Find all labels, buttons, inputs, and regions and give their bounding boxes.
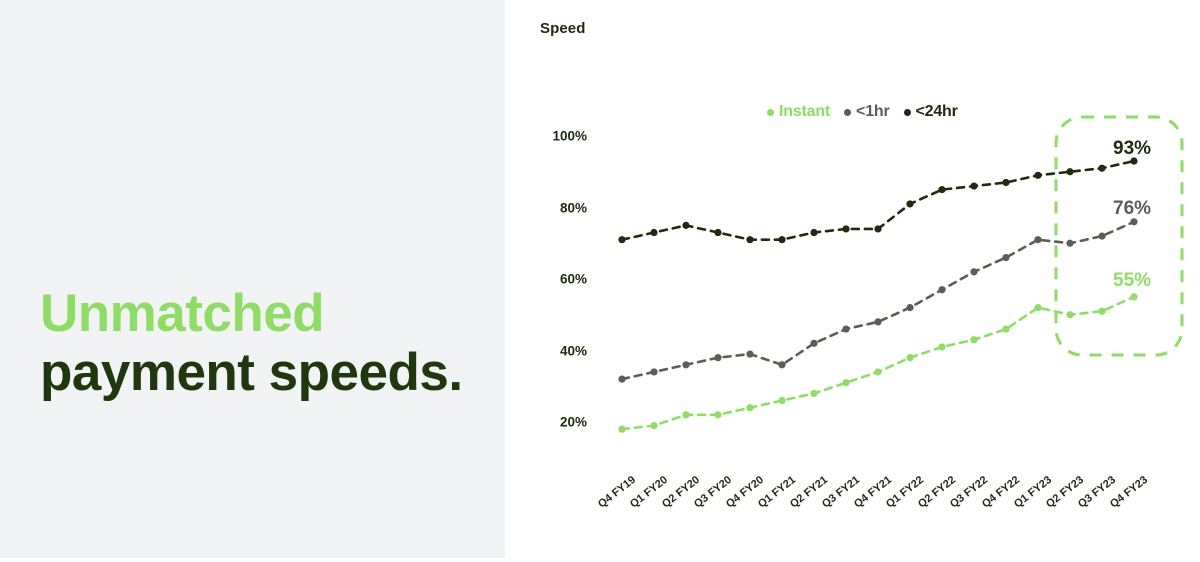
callout-1hr: 76% [1113,198,1151,220]
callout-instant: 55% [1113,270,1151,292]
hero-heading-line-1: Unmatched [40,284,463,343]
slide-canvas: Unmatched payment speeds. Speed Instant … [0,0,1200,562]
callout-24hr: 93% [1113,138,1151,160]
chart-callouts: 93%76%55% [505,0,1200,562]
hero-heading-line-2: payment speeds. [40,343,463,402]
chart-panel: Speed Instant <1hr <24hr 20%40%60%80%100… [505,0,1200,562]
hero-panel: Unmatched payment speeds. [0,0,505,558]
hero-heading: Unmatched payment speeds. [40,284,463,403]
